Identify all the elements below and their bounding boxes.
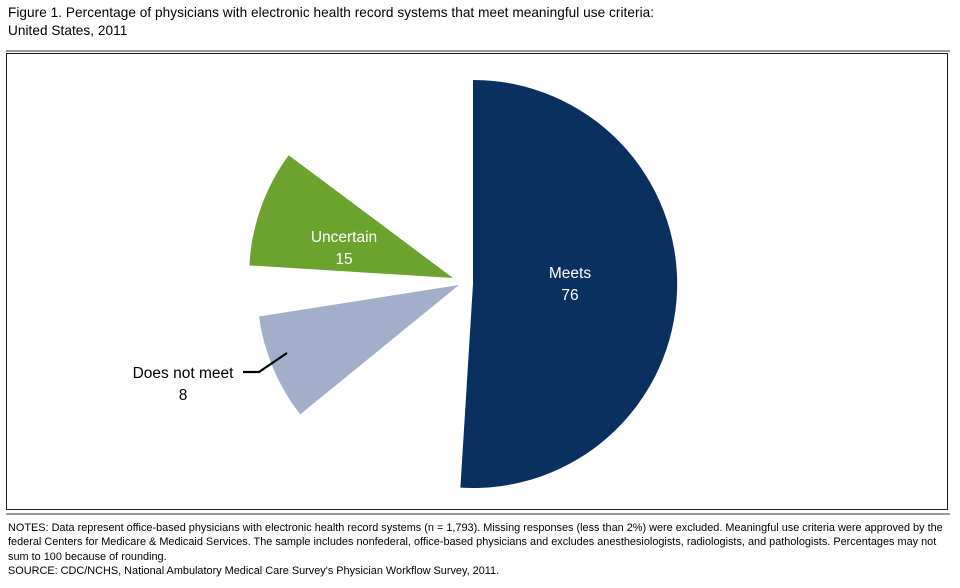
- source-text: SOURCE: CDC/NCHS, National Ambulatory Me…: [8, 564, 952, 578]
- footnotes: NOTES: Data represent office-based physi…: [8, 521, 952, 579]
- chart-frame: Meets 76 Uncertain 15 Does not meet 8: [6, 53, 948, 510]
- slice-label-meets: Meets: [549, 265, 591, 282]
- slice-value-uncertain: 15: [335, 251, 352, 268]
- pie-chart: Meets 76 Uncertain 15 Does not meet 8: [7, 54, 949, 511]
- slice-label-uncertain: Uncertain: [311, 229, 377, 246]
- notes-text: NOTES: Data represent office-based physi…: [8, 521, 952, 564]
- pie-slice-does-not-meet[interactable]: [259, 285, 459, 414]
- slice-label-does-not-meet: Does not meet: [133, 365, 234, 382]
- top-divider: [6, 50, 950, 52]
- slice-value-does-not-meet: 8: [179, 387, 188, 404]
- bottom-divider: [6, 513, 950, 515]
- pie-slice-meets[interactable]: [460, 80, 677, 488]
- slice-value-meets: 76: [561, 287, 578, 304]
- figure-page: Figure 1. Percentage of physicians with …: [0, 0, 960, 588]
- page-title: Figure 1. Percentage of physicians with …: [8, 4, 948, 40]
